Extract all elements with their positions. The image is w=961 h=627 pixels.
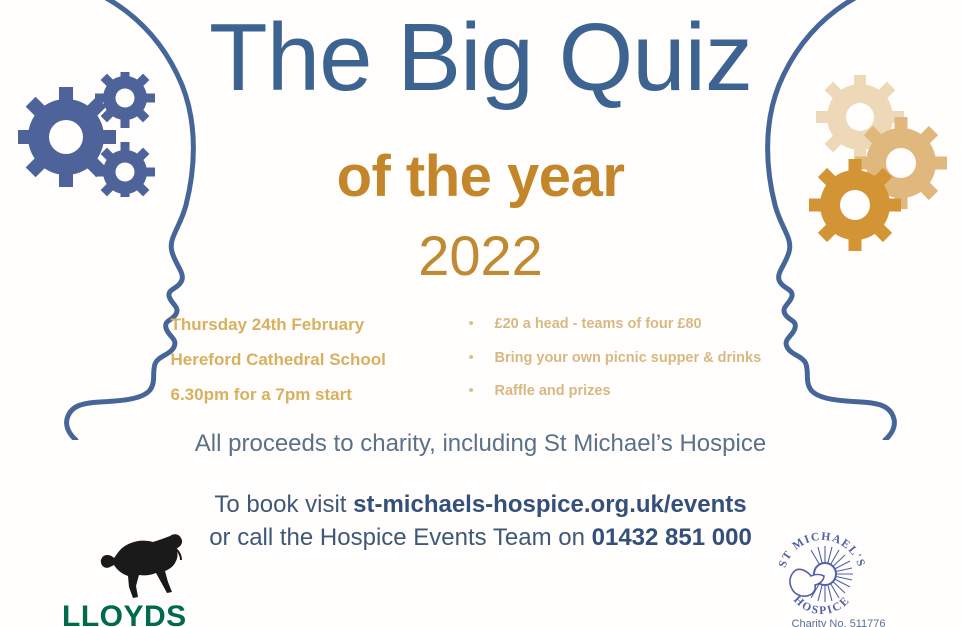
bullet-label-raffle: Raffle and prizes <box>495 384 611 399</box>
booking-website-prefix: To book visit <box>214 491 353 518</box>
hospice-charity-number: Charity No. 511776 <box>766 618 911 627</box>
detail-line-date: Thursday 24th February <box>171 316 443 333</box>
hospice-sunburst-icon: ST MICHAEL'S HOSPICE <box>772 530 872 622</box>
detail-line-time: 6.30pm for a 7pm start <box>171 386 443 403</box>
svg-text:HOSPICE: HOSPICE <box>791 594 853 617</box>
event-details-bullet-list: • £20 a head - teams of four £80 • Bring… <box>443 316 799 417</box>
booking-line-website: To book visit st-michaels-hospice.org.uk… <box>0 488 961 521</box>
event-details-left-column: Thursday 24th February Hereford Cathedra… <box>163 316 443 421</box>
poster-title-main: The Big Quiz <box>0 8 961 109</box>
poster-title-subtitle: of the year <box>0 148 961 206</box>
proceeds-statement: All proceeds to charity, including St Mi… <box>0 430 961 458</box>
list-item: • Raffle and prizes <box>469 383 799 399</box>
black-horse-icon <box>100 530 196 602</box>
list-item: • £20 a head - teams of four £80 <box>469 316 799 332</box>
event-details: Thursday 24th February Hereford Cathedra… <box>0 316 961 421</box>
bullet-dot-icon: • <box>469 350 495 365</box>
bullet-dot-icon: • <box>469 316 495 331</box>
detail-line-venue: Hereford Cathedral School <box>171 351 443 368</box>
list-item: • Bring your own picnic supper & drinks <box>469 350 799 366</box>
booking-website-url[interactable]: st-michaels-hospice.org.uk/events <box>353 491 746 518</box>
bullet-dot-icon: • <box>469 383 495 398</box>
hospice-arc-bottom-label: HOSPICE <box>791 594 853 617</box>
quiz-poster: The Big Quiz of the year 2022 Thursday 2… <box>0 0 961 627</box>
bullet-label-picnic: Bring your own picnic supper & drinks <box>495 351 762 366</box>
st-michaels-hospice-logo: ST MICHAEL'S HOSPICE Charity No. 511776 <box>772 530 902 627</box>
poster-title-year: 2022 <box>0 228 961 284</box>
lloyds-bank-wordmark: LLOYDS BANK <box>62 600 277 627</box>
booking-phone-number[interactable]: 01432 851 000 <box>592 524 752 551</box>
lloyds-bank-logo: LLOYDS BANK <box>62 530 277 627</box>
bullet-label-price: £20 a head - teams of four £80 <box>495 317 702 332</box>
